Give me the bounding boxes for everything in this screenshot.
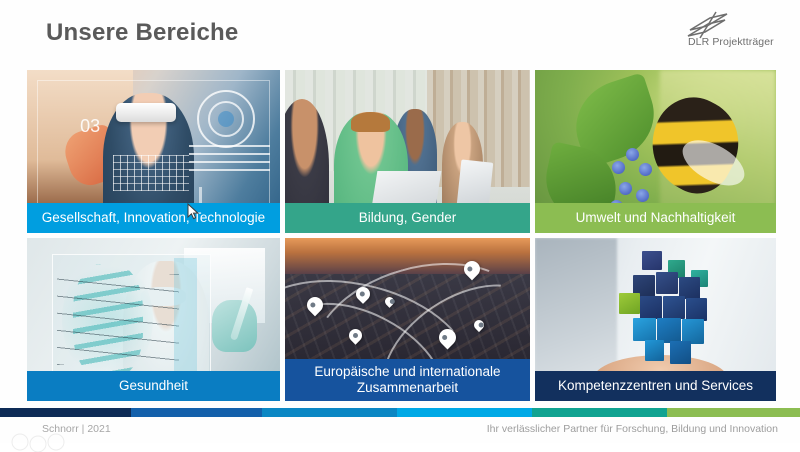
- card-label-5[interactable]: Europäische und internationale Zusammena…: [285, 359, 530, 401]
- card-label-1[interactable]: Gesellschaft, Innovation, Technologie: [27, 203, 280, 233]
- bereiche-grid: 03 Gesellschaft, Innovation, Technologie…: [27, 70, 778, 404]
- mouse-pointer-icon: [187, 203, 199, 221]
- footer-author: Schnorr | 2021: [42, 423, 111, 435]
- card-label-2[interactable]: Bildung, Gender: [285, 203, 530, 233]
- page-title: Unsere Bereiche: [46, 19, 238, 47]
- color-bar-segment-3: [262, 408, 397, 417]
- slide-header: Unsere Bereiche DLR Projektträger: [0, 0, 800, 68]
- brand-color-bar: [0, 408, 800, 417]
- dlr-logo-text: DLR Projektträger: [688, 36, 774, 48]
- card-gesundheit[interactable]: Gesundheit: [27, 238, 280, 401]
- card-gesellschaft-innovation-technologie[interactable]: 03 Gesellschaft, Innovation, Technologie: [27, 70, 280, 233]
- footer-tagline: Ihr verlässlicher Partner für Forschung,…: [487, 423, 778, 435]
- card-label-4[interactable]: Gesundheit: [27, 371, 280, 401]
- slide-root: Unsere Bereiche DLR Projektträger 03: [0, 0, 800, 443]
- color-bar-segment-6: [667, 408, 800, 417]
- color-bar-segment-2: [131, 408, 262, 417]
- card-europaeische-internationale-zusammenarbeit[interactable]: Europäische und internationale Zusammena…: [285, 238, 530, 401]
- color-bar-segment-4: [397, 408, 532, 417]
- slide-footer: Schnorr | 2021 Ihr verlässlicher Partner…: [0, 420, 800, 443]
- dlr-logo: DLR Projektträger: [658, 8, 778, 54]
- color-bar-segment-5: [532, 408, 667, 417]
- card-kompetenzzentren-services[interactable]: Kompetenzzentren und Services: [535, 238, 776, 401]
- color-bar-segment-1: [0, 408, 131, 417]
- card-bildung-gender[interactable]: Bildung, Gender: [285, 70, 530, 233]
- card-umwelt-nachhaltigkeit[interactable]: Umwelt und Nachhaltigkeit: [535, 70, 776, 233]
- card-label-6[interactable]: Kompetenzzentren und Services: [535, 371, 776, 401]
- footer-decoration-icon: [10, 432, 80, 452]
- card-label-3[interactable]: Umwelt und Nachhaltigkeit: [535, 203, 776, 233]
